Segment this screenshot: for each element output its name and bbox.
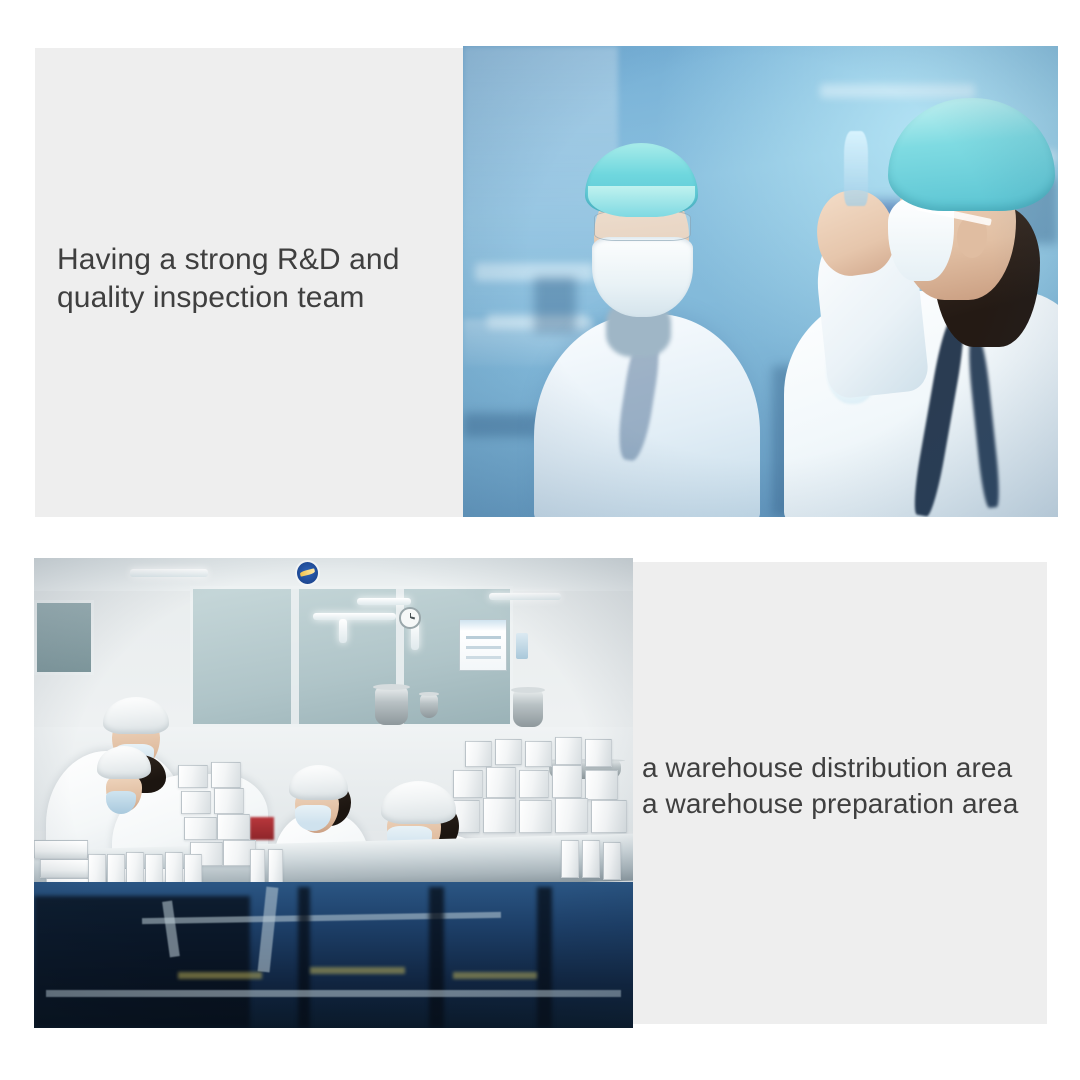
- warehouse-packing-photo: [34, 558, 633, 1028]
- caption-two-line-2: a warehouse preparation area: [642, 786, 1052, 822]
- caption-one-line-2: quality inspection team: [57, 279, 457, 317]
- caption-two-line-1: a warehouse distribution area: [642, 750, 1052, 786]
- photo-one-vignette: [463, 46, 1058, 517]
- caption-one-line-1: Having a strong R&D and: [57, 241, 457, 279]
- photo-two-vignette: [34, 558, 633, 1028]
- page-root: Having a strong R&D and quality inspecti…: [0, 0, 1080, 1080]
- lab-technicians-photo: [463, 46, 1058, 517]
- caption-rnd-quality: Having a strong R&D and quality inspecti…: [57, 241, 457, 317]
- section-warehouse-areas: a warehouse distribution area a warehous…: [34, 558, 1047, 1030]
- caption-warehouse-areas: a warehouse distribution area a warehous…: [642, 750, 1052, 822]
- section-rnd-quality: Having a strong R&D and quality inspecti…: [35, 46, 1058, 517]
